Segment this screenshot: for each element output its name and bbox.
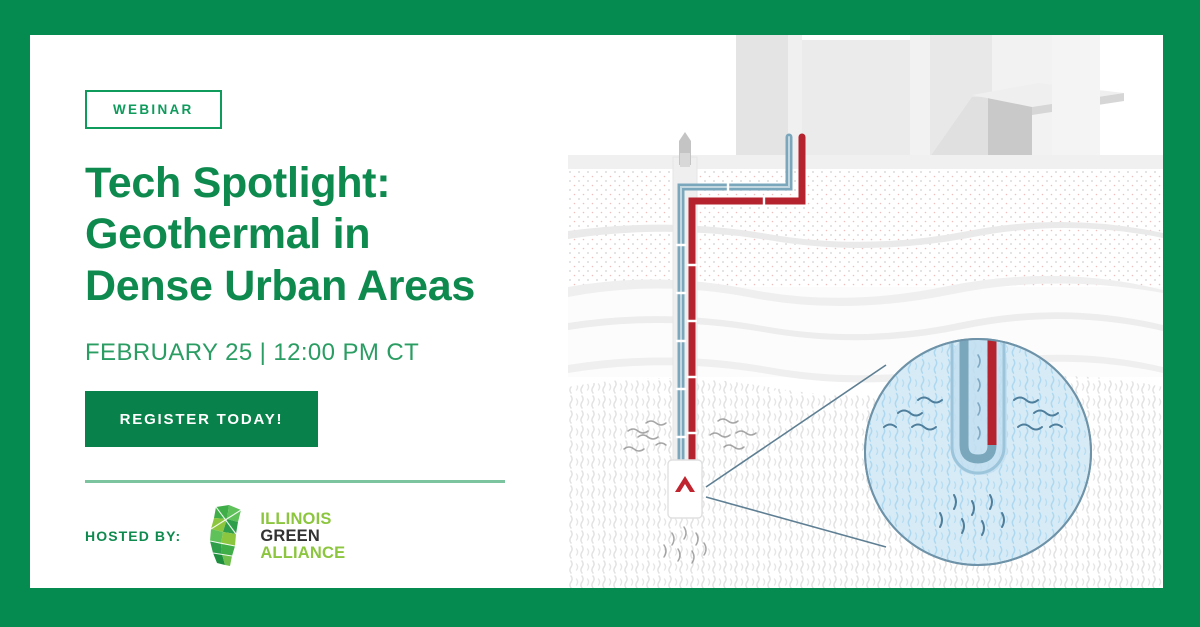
section-divider (85, 480, 505, 483)
ground-strata (568, 155, 1163, 588)
illinois-green-alliance-logo[interactable]: ILLINOIS GREEN ALLIANCE (205, 505, 345, 567)
illinois-state-faceted-icon (205, 505, 251, 567)
hosted-by-row: HOSTED BY: (85, 505, 565, 567)
logo-line-green: GREEN (260, 528, 345, 545)
logo-line-illinois: ILLINOIS (260, 511, 345, 528)
geothermal-illustration (568, 35, 1163, 588)
white-content-card: WEBINAR Tech Spotlight: Geothermal in De… (30, 35, 1163, 588)
borehole-bottom (668, 460, 702, 518)
register-today-button[interactable]: REGISTER TODAY! (85, 391, 318, 447)
city-building-silhouettes (736, 35, 1124, 157)
logo-line-alliance: ALLIANCE (260, 545, 345, 562)
promo-graphic-frame: WEBINAR Tech Spotlight: Geothermal in De… (0, 0, 1200, 627)
promo-text-column: WEBINAR Tech Spotlight: Geothermal in De… (85, 90, 565, 567)
event-datetime: FEBRUARY 25 | 12:00 PM CT (85, 339, 565, 367)
logo-wordmark: ILLINOIS GREEN ALLIANCE (260, 511, 345, 561)
title-line-2: Geothermal in (85, 209, 565, 261)
webinar-badge: WEBINAR (85, 90, 222, 129)
title-line-3: Dense Urban Areas (85, 261, 565, 313)
hosted-by-label: HOSTED BY: (85, 528, 181, 544)
page-title: Tech Spotlight: Geothermal in Dense Urba… (85, 158, 565, 313)
title-line-1: Tech Spotlight: (85, 158, 565, 210)
